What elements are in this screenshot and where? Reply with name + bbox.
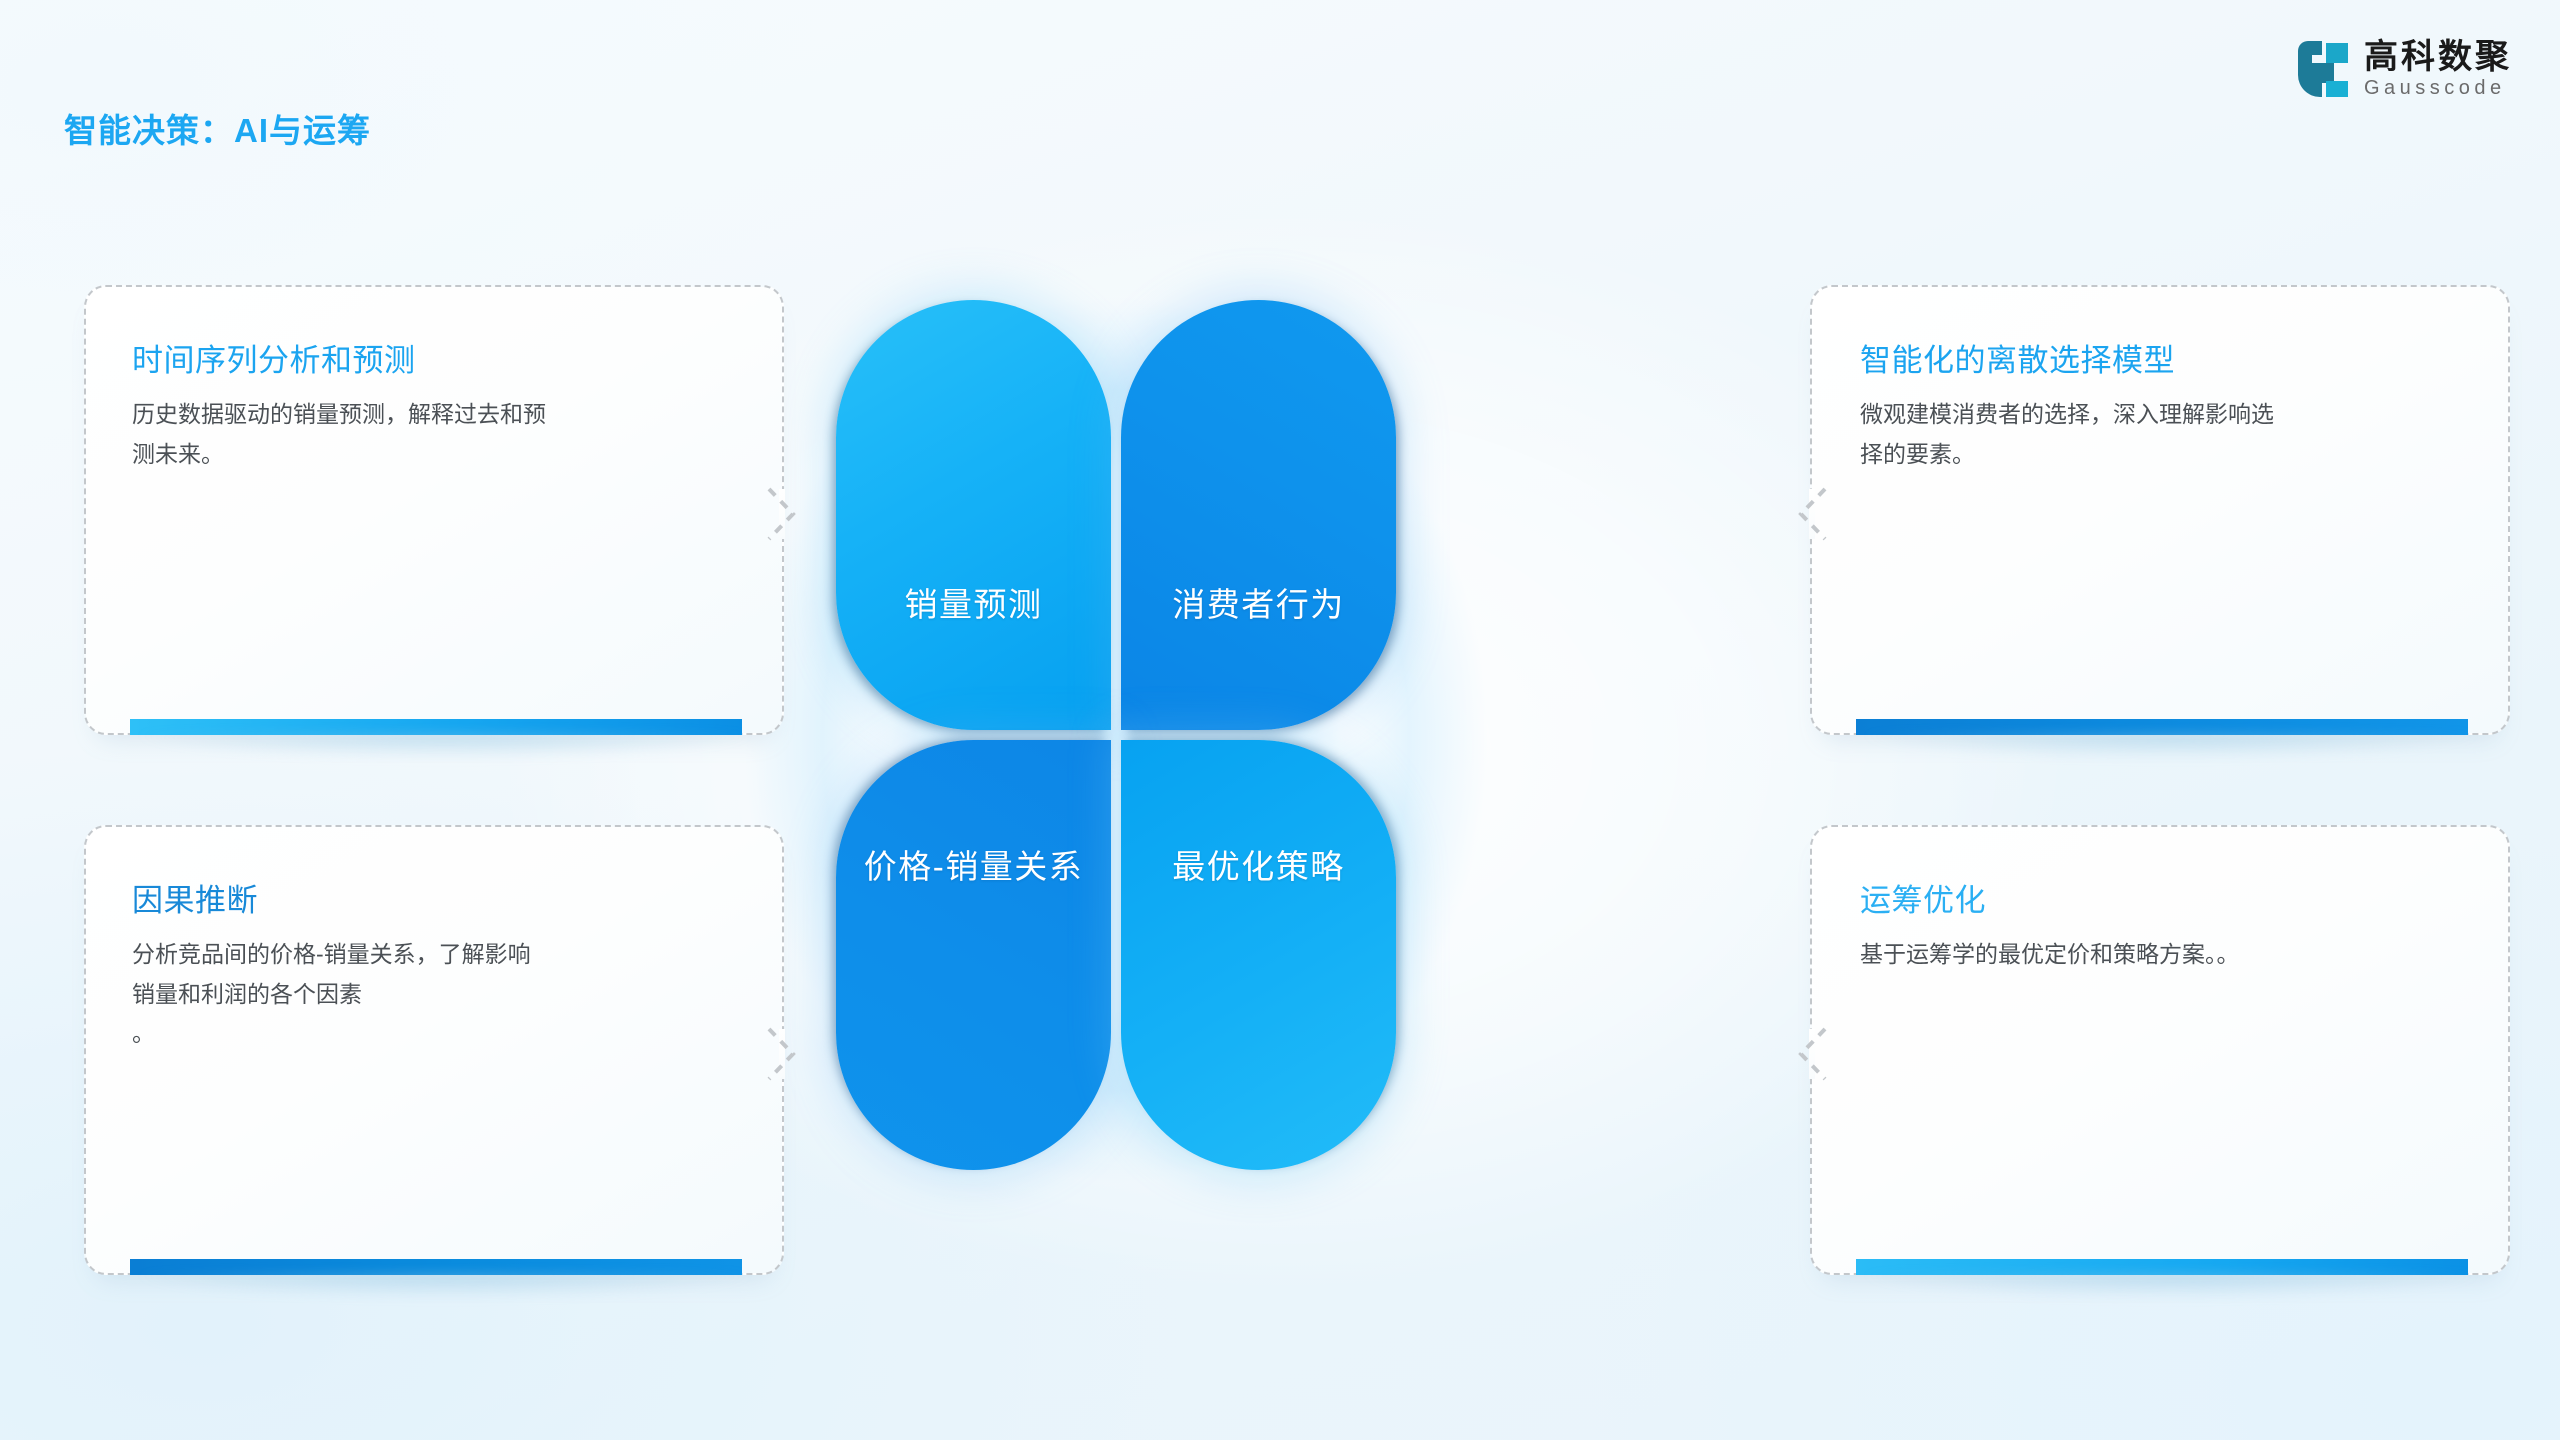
- card-accent-bar: [130, 1259, 742, 1275]
- petal-price-sales[interactable]: 价格-销量关系: [836, 740, 1111, 1170]
- petal-label: 销量预测: [905, 578, 1043, 626]
- card-body: 微观建模消费者的选择，深入理解影响选 择的要素。: [1860, 395, 2464, 474]
- card-body: 分析竞品间的价格-销量关系，了解影响 销量和利润的各个因素 。: [132, 935, 732, 1054]
- card-title: 运筹优化: [1860, 875, 1986, 920]
- card-accent-bar: [1856, 719, 2468, 735]
- brand-logo: 高科数聚 Gausscode: [2298, 40, 2512, 99]
- card-edge-mask: [1809, 489, 1815, 539]
- petal-optimal-strategy[interactable]: 最优化策略: [1121, 740, 1396, 1170]
- card-causal-inference[interactable]: 因果推断 分析竞品间的价格-销量关系，了解影响 销量和利润的各个因素 。: [84, 825, 784, 1275]
- card-edge-mask: [1809, 1029, 1815, 1079]
- card-discrete-choice[interactable]: 智能化的离散选择模型 微观建模消费者的选择，深入理解影响选 择的要素。: [1810, 285, 2510, 735]
- card-operations-optimization[interactable]: 运筹优化 基于运筹学的最优定价和策略方案。。: [1810, 825, 2510, 1275]
- petal-label: 价格-销量关系: [864, 840, 1084, 888]
- petal-sales-forecast[interactable]: 销量预测: [836, 300, 1111, 730]
- brand-name-en: Gausscode: [2364, 77, 2512, 99]
- card-accent-bar: [1856, 1259, 2468, 1275]
- petal-label: 消费者行为: [1172, 578, 1345, 626]
- card-accent-bar: [130, 719, 742, 735]
- card-title: 因果推断: [132, 875, 258, 920]
- card-body: 历史数据驱动的销量预测，解释过去和预 测未来。: [132, 395, 732, 474]
- petal-consumer-behavior[interactable]: 消费者行为: [1121, 300, 1396, 730]
- clover-glow: [716, 180, 1516, 1300]
- card-time-series[interactable]: 时间序列分析和预测 历史数据驱动的销量预测，解释过去和预 测未来。: [84, 285, 784, 735]
- brand-name-cn: 高科数聚: [2364, 40, 2512, 76]
- clover-diagram: 销量预测 消费者行为 价格-销量关系 最优化策略: [836, 300, 1396, 1180]
- page-title: 智能决策：AI与运筹: [64, 104, 371, 152]
- card-edge-mask: [779, 1029, 785, 1079]
- card-edge-mask: [779, 489, 785, 539]
- card-title: 时间序列分析和预测: [132, 335, 416, 380]
- brand-text: 高科数聚 Gausscode: [2364, 40, 2512, 99]
- card-body: 基于运筹学的最优定价和策略方案。。: [1860, 935, 2464, 975]
- gausscode-logo-icon: [2298, 41, 2350, 97]
- petal-label: 最优化策略: [1172, 840, 1345, 888]
- card-title: 智能化的离散选择模型: [1860, 335, 2175, 380]
